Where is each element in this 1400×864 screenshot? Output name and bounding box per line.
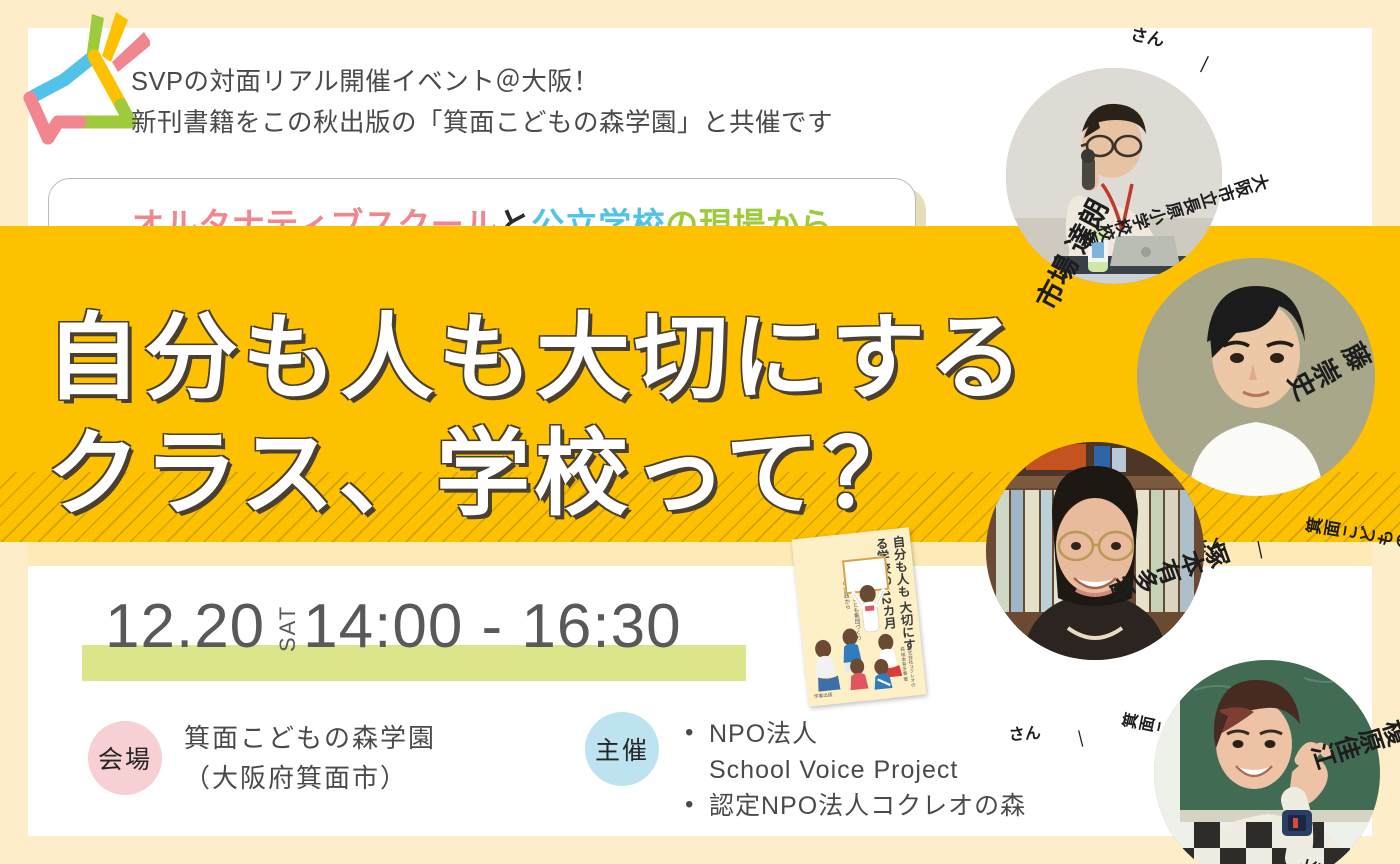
speaker-2-affiliation: 箕面こどもの森学園 xyxy=(1303,513,1400,566)
schedule-row: 12.20 SAT 14:00 - 16:30 xyxy=(105,588,682,658)
lead-text: SVPの対面リアル開催イベント＠大阪！ 新刊書籍をこの秋出版の「箕面こどもの森学… xyxy=(131,62,833,144)
page-title: 自分も人も大切にする クラス、学校って？ xyxy=(46,300,1086,532)
venue-badge: 会場 xyxy=(88,721,162,795)
venue-block: 会場 箕面こどもの森学園 （大阪府箕面市） xyxy=(88,718,436,798)
event-day-of-week: SAT xyxy=(275,598,301,652)
event-time: 14:00 - 16:30 xyxy=(303,596,681,658)
venue-text: 箕面こどもの森学園 （大阪府箕面市） xyxy=(184,718,436,798)
event-poster: SVPの対面リアル開催イベント＠大阪！ 新刊書籍をこの秋出版の「箕面こどもの森学… xyxy=(0,0,1400,864)
speaker-photo-ebara xyxy=(1154,660,1380,864)
title-line-2: クラス、学校って？ xyxy=(46,416,1086,532)
event-date: 12.20 xyxy=(105,596,265,658)
list-item: 認定NPO法人コクレオの森 xyxy=(677,788,1026,824)
title-line-1: 自分も人も大切にする xyxy=(46,300,1086,416)
speaker-1-honorific: さん xyxy=(1129,20,1167,52)
speaker-3-separator: ｜ xyxy=(1070,724,1091,751)
speaker-3-honorific: さん xyxy=(1008,719,1042,745)
host-badge: 主催 xyxy=(585,712,659,786)
speaker-4: 榎原佳江 さん ｜ 大阪府 高校教員 xyxy=(1090,640,1400,864)
speaker-2-separator: ｜ xyxy=(1249,535,1271,563)
